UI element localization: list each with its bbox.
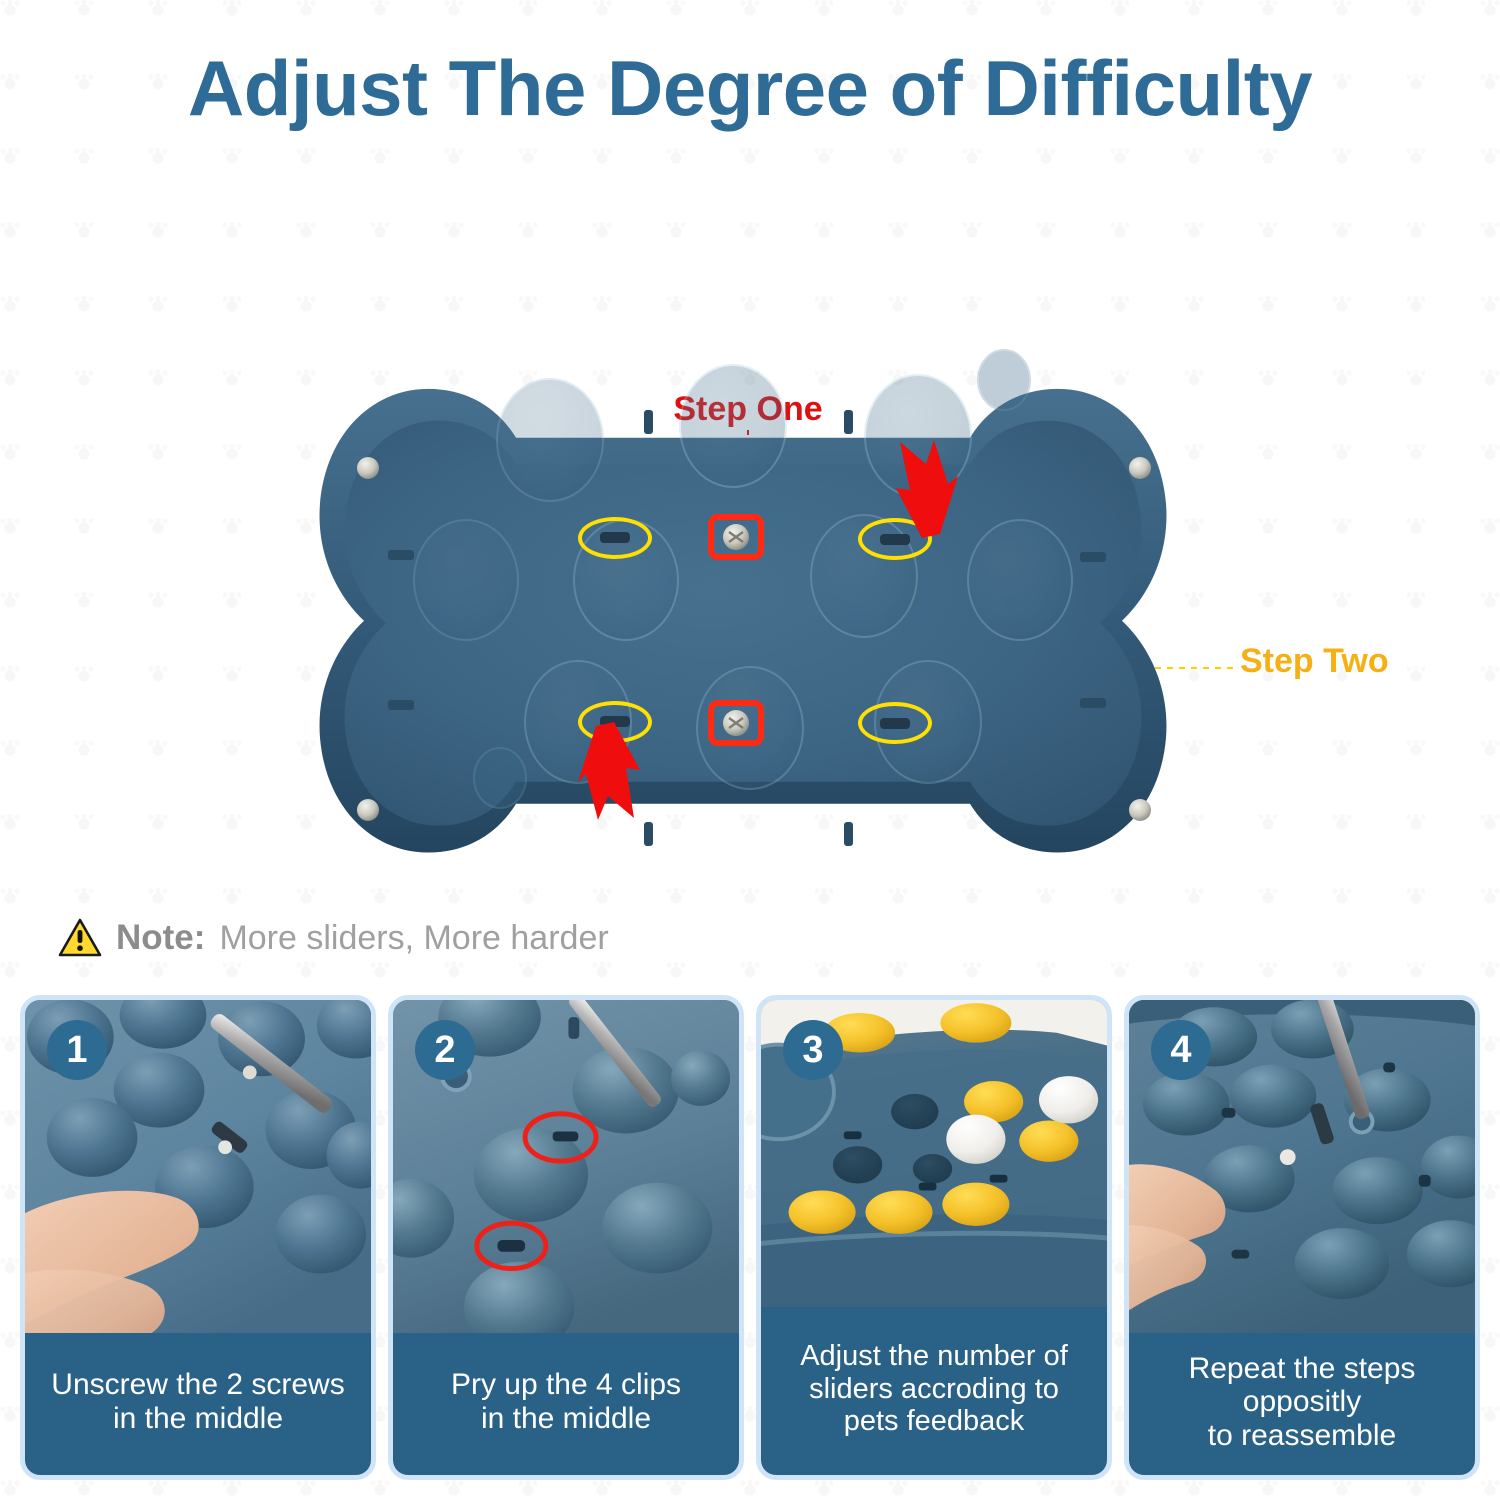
caption-line: in the middle	[33, 1402, 363, 1436]
slider-piece	[789, 1190, 856, 1233]
red-arrow-upper	[886, 430, 966, 540]
step-panel-4[interactable]: 4	[1124, 995, 1480, 1480]
clip-highlight-ellipse-top-left	[578, 517, 652, 559]
step-badge-1: 1	[47, 1020, 107, 1080]
step-caption-1: Unscrew the 2 screws in the middle	[25, 1333, 371, 1475]
step-photo-3: 3	[761, 1000, 1107, 1307]
page-title: Adjust The Degree of Difficulty	[0, 48, 1500, 130]
step-caption-3: Adjust the number of sliders accroding t…	[761, 1307, 1107, 1475]
step-photo-4: 4	[1129, 1000, 1475, 1333]
caption-line: sliders accroding to	[769, 1373, 1099, 1405]
hero-section: Step One Step Two	[0, 180, 1500, 910]
caption-line: Pry up the 4 clips	[401, 1368, 731, 1402]
step-panel-1[interactable]: 1	[20, 995, 376, 1480]
caption-line: pets feedback	[769, 1405, 1099, 1437]
board-illustration	[278, 250, 1208, 870]
clip-highlight-ellipse-bottom-right	[858, 702, 932, 744]
step-photo-1: 1	[25, 1000, 371, 1333]
note-label: Note:	[116, 918, 205, 958]
caption-line: Unscrew the 2 screws	[33, 1368, 363, 1402]
step-badge-2: 2	[415, 1020, 475, 1080]
slider-piece-white	[946, 1115, 1005, 1164]
screw-highlight-box-bottom	[708, 700, 764, 746]
step-panel-2[interactable]: 2	[388, 995, 744, 1480]
slider-piece	[942, 1183, 1009, 1226]
slider-piece	[1019, 1120, 1078, 1161]
steps-panel-grid: 1	[20, 995, 1480, 1480]
warning-triangle-icon	[58, 918, 102, 958]
step-two-label: Step Two	[1240, 642, 1389, 681]
slider-piece	[865, 1190, 932, 1233]
slider-piece	[940, 1003, 1011, 1042]
screw-highlight-box-top	[708, 514, 764, 560]
step-caption-4: Repeat the steps oppositly to reassemble	[1129, 1333, 1475, 1475]
note-text: More sliders, More harder	[219, 919, 608, 958]
slider-piece-white	[1039, 1076, 1098, 1123]
red-arrow-lower	[574, 716, 654, 826]
caption-line: to reassemble	[1137, 1419, 1467, 1453]
caption-line: in the middle	[401, 1402, 731, 1436]
step-photo-2: 2	[393, 1000, 739, 1333]
caption-line: Adjust the number of	[769, 1340, 1099, 1372]
puzzle-board-photo	[278, 250, 1208, 870]
caption-line: Repeat the steps oppositly	[1137, 1352, 1467, 1419]
step-badge-4: 4	[1151, 1020, 1211, 1080]
step-badge-3: 3	[783, 1020, 843, 1080]
note-row: Note: More sliders, More harder	[58, 918, 609, 958]
step-caption-2: Pry up the 4 clips in the middle	[393, 1333, 739, 1475]
step-panel-3[interactable]: 3	[756, 995, 1112, 1480]
